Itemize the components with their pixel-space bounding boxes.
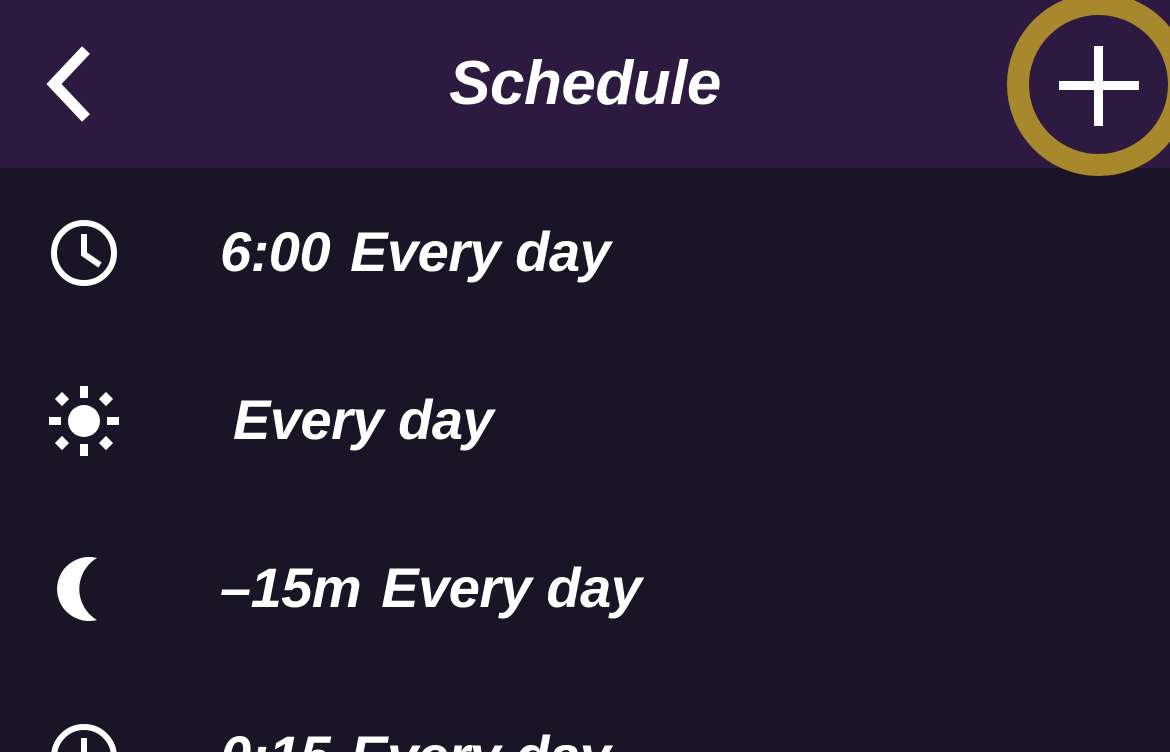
schedule-row-time: 0:15 (220, 724, 330, 752)
schedule-list: 6:00Every day Every day (0, 168, 1170, 752)
schedule-row-repeat: Every day (233, 388, 493, 451)
schedule-row[interactable]: 6:00Every day (0, 168, 1170, 336)
schedule-row-repeat: Every day (350, 220, 610, 283)
schedule-row-label: 0:15Every day (220, 716, 610, 752)
schedule-row-time: 6:00 (220, 220, 330, 283)
schedule-row[interactable]: –15mEvery day (0, 504, 1170, 672)
page-title: Schedule (0, 0, 1170, 168)
app-header: Schedule (0, 0, 1170, 168)
schedule-row-repeat: Every day (350, 724, 610, 752)
schedule-row-label: –15mEvery day (220, 548, 641, 628)
schedule-row-time: –15m (220, 556, 361, 619)
schedule-row-label: Every day (233, 380, 493, 460)
schedule-screen: Schedule 6:00Every day (0, 0, 1170, 752)
sun-icon (49, 386, 119, 456)
clock-icon (49, 218, 119, 288)
moon-icon (49, 554, 119, 624)
schedule-row[interactable]: 0:15Every day (0, 672, 1170, 752)
schedule-row-label: 6:00Every day (220, 212, 610, 292)
schedule-row[interactable]: Every day (0, 336, 1170, 504)
schedule-row-repeat: Every day (381, 556, 641, 619)
clock-icon (49, 722, 119, 752)
